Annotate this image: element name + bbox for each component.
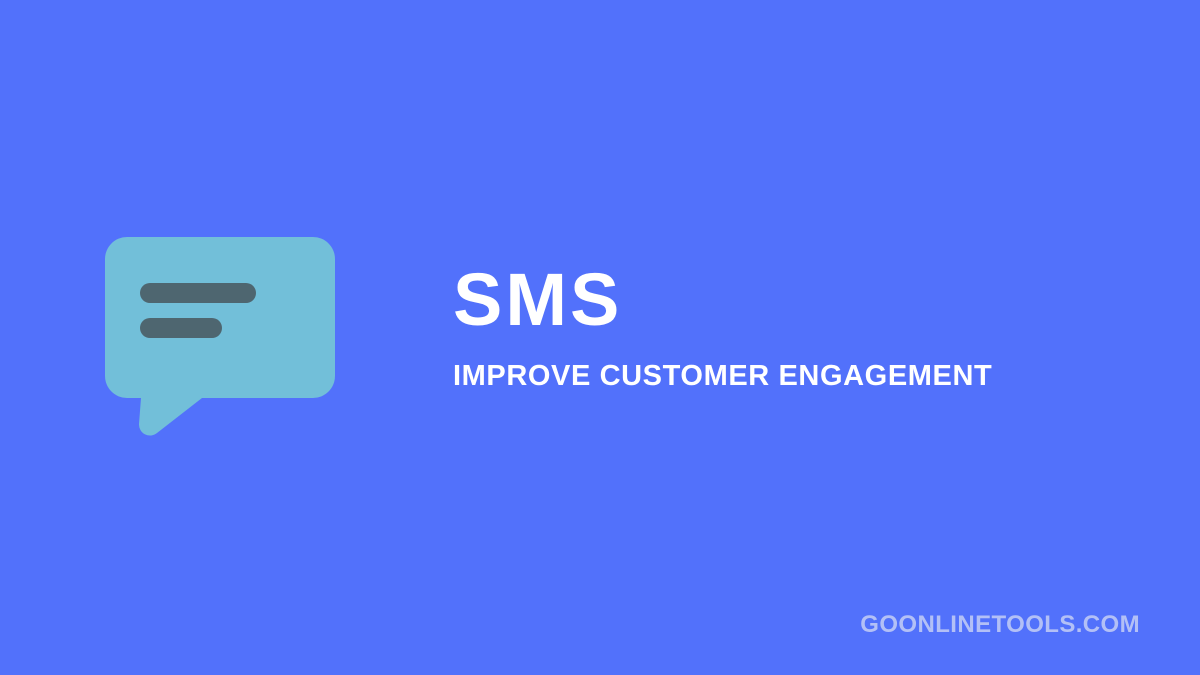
watermark-label: GOONLINETOOLS.COM (860, 611, 1140, 639)
sms-banner: SMS IMPROVE CUSTOMER ENGAGEMENT GOONLINE… (0, 0, 1200, 675)
bubble-shape (105, 237, 335, 436)
speech-bubble-icon (105, 237, 335, 437)
message-line-short (140, 318, 222, 338)
banner-text-block: SMS IMPROVE CUSTOMER ENGAGEMENT (453, 262, 1093, 392)
page-subtitle: IMPROVE CUSTOMER ENGAGEMENT (453, 338, 1093, 392)
message-line-long (140, 283, 256, 303)
page-title: SMS (453, 262, 1093, 338)
